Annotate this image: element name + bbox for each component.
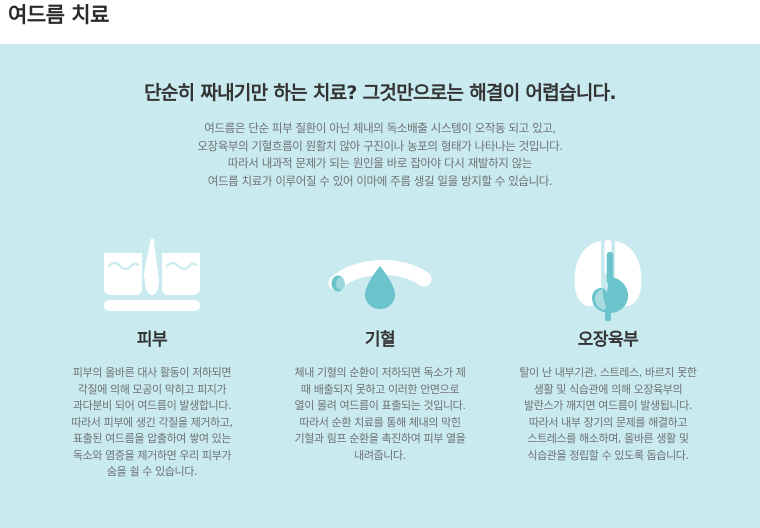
feature-body-line: 숨을 쉴 수 있습니다. bbox=[42, 464, 262, 481]
skin-layer-icon bbox=[42, 234, 262, 324]
intro-body-line: 여드름은 단순 피부 질환이 아닌 체내의 독소배출 시스템이 오작동 되고 있… bbox=[0, 120, 760, 138]
intro-body-line: 오장육부의 기혈흐름이 원활치 않아 구진이나 농포의 형태가 나타나는 것입니… bbox=[0, 138, 760, 156]
feature-body-line: 생활 및 식습관에 의해 오장육부의 bbox=[498, 382, 718, 399]
feature-body-line: 표출된 여드름을 압출하여 쌓여 있는 bbox=[42, 431, 262, 448]
infographic-page: 여드름 치료 단순히 짜내기만 하는 치료? 그것만으로는 해결이 어렵습니다.… bbox=[0, 0, 760, 528]
intro-body-line: 여드름 치료가 이루어질 수 있어 이마에 주름 생길 일을 방지할 수 있습니… bbox=[0, 173, 760, 191]
feature-body-line: 발란스가 깨지면 여드름이 발생됩니다. bbox=[498, 398, 718, 415]
intro-section: 단순히 짜내기만 하는 치료? 그것만으로는 해결이 어렵습니다. 여드름은 단… bbox=[0, 80, 760, 190]
feature-body-line: 때 배출되지 못하고 이러한 안면으로 bbox=[270, 382, 490, 399]
feature-column-body: 탈이 난 내부기관, 스트레스, 바르지 못한 생활 및 식습관에 의해 오장육… bbox=[498, 365, 718, 464]
content-panel: 단순히 짜내기만 하는 치료? 그것만으로는 해결이 어렵습니다. 여드름은 단… bbox=[0, 44, 760, 528]
feature-body-line: 체내 기혈의 순환이 저하되면 독소가 제 bbox=[270, 365, 490, 382]
feature-body-line: 과다분비 되어 여드름이 발생합니다. bbox=[42, 398, 262, 415]
feature-column-blood: 기혈 체내 기혈의 순환이 저하되면 독소가 제 때 배출되지 못하고 이러한 … bbox=[266, 234, 494, 464]
feature-body-line: 따라서 피부에 생긴 각질을 제거하고, bbox=[42, 415, 262, 432]
feature-column-body: 체내 기혈의 순환이 저하되면 독소가 제 때 배출되지 못하고 이러한 안면으… bbox=[270, 365, 490, 464]
intro-body: 여드름은 단순 피부 질환이 아닌 체내의 독소배출 시스템이 오작동 되고 있… bbox=[0, 120, 760, 190]
feature-column-body: 피부의 올바른 대사 활동이 저하되면 각질에 의해 모공이 막히고 피지가 과… bbox=[42, 365, 262, 481]
feature-column-title: 피부 bbox=[42, 328, 262, 352]
feature-column-title: 오장육부 bbox=[498, 328, 718, 352]
intro-body-line: 따라서 내과적 문제가 되는 원인을 바로 잡아야 다시 재발하지 않는 bbox=[0, 155, 760, 173]
feature-columns: 피부 피부의 올바른 대사 활동이 저하되면 각질에 의해 모공이 막히고 피지… bbox=[0, 234, 760, 481]
page-header: 여드름 치료 bbox=[0, 0, 760, 44]
feature-column-title: 기혈 bbox=[270, 328, 490, 352]
feature-body-line: 따라서 내부 장기의 문제를 해결하고 bbox=[498, 415, 718, 432]
feature-body-line: 식습관을 정립할 수 있도록 돕습니다. bbox=[498, 448, 718, 465]
feature-body-line: 탈이 난 내부기관, 스트레스, 바르지 못한 bbox=[498, 365, 718, 382]
feature-body-line: 따라서 순환 치료를 통해 체내의 막힌 bbox=[270, 415, 490, 432]
intro-heading: 단순히 짜내기만 하는 치료? 그것만으로는 해결이 어렵습니다. bbox=[0, 80, 760, 106]
feature-body-line: 독소와 염증을 제거하면 우리 피부가 bbox=[42, 448, 262, 465]
feature-body-line: 내려줍니다. bbox=[270, 448, 490, 465]
internal-organs-icon bbox=[498, 234, 718, 324]
feature-body-line: 각질에 의해 모공이 막히고 피지가 bbox=[42, 382, 262, 399]
feature-body-line: 스트레스를 해소하며, 올바른 생활 및 bbox=[498, 431, 718, 448]
feature-body-line: 피부의 올바른 대사 활동이 저하되면 bbox=[42, 365, 262, 382]
feature-body-line: 기혈과 림프 순환을 촉진하여 피부 열을 bbox=[270, 431, 490, 448]
page-title: 여드름 치료 bbox=[8, 1, 109, 29]
blood-vessel-droplet-icon bbox=[270, 234, 490, 324]
feature-column-organs: 오장육부 탈이 난 내부기관, 스트레스, 바르지 못한 생활 및 식습관에 의… bbox=[494, 234, 722, 464]
feature-column-skin: 피부 피부의 올바른 대사 활동이 저하되면 각질에 의해 모공이 막히고 피지… bbox=[38, 234, 266, 481]
feature-body-line: 열이 몰려 여드름이 표출되는 것입니다. bbox=[270, 398, 490, 415]
